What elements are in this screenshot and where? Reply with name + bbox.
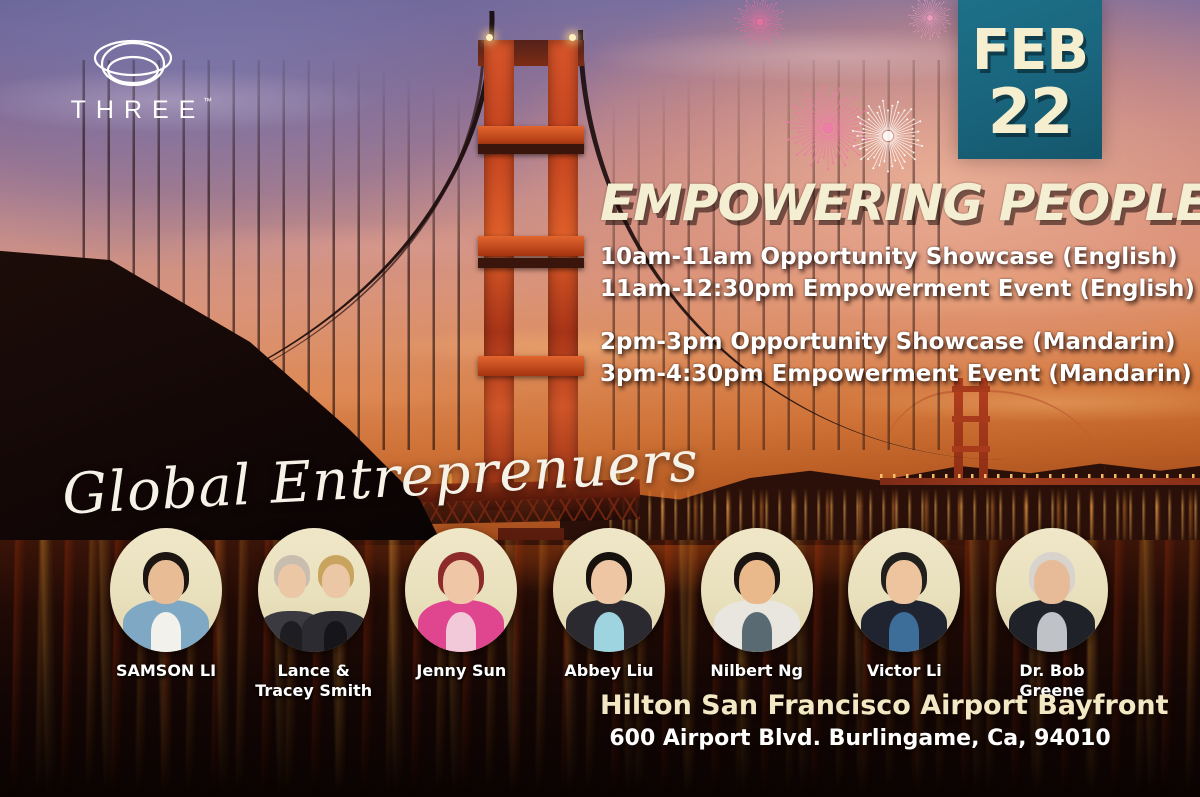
speaker-name: Lance & Tracey Smith (255, 661, 372, 700)
portrait-inner-shirt (280, 621, 303, 652)
portrait-face (591, 560, 627, 604)
portrait-inner-shirt (446, 612, 476, 652)
session-line: 2pm-3pm Opportunity Showcase (Mandarin) (600, 327, 1120, 359)
speaker-portrait (701, 528, 813, 652)
far-bridge-deck (880, 478, 1200, 485)
portrait-inner-shirt (324, 621, 347, 652)
speaker-card: Lance & Tracey Smith (252, 528, 376, 700)
speaker-portrait (848, 528, 960, 652)
portrait-face (739, 560, 775, 604)
speaker-name: SAMSON LI (116, 661, 216, 681)
speaker-portrait (258, 528, 370, 652)
portrait-inner-shirt (889, 612, 919, 652)
speaker-name: Jenny Sun (416, 661, 506, 681)
portrait-face (886, 560, 922, 604)
three-brand-logo: THREE ™ (58, 36, 208, 128)
portrait-inner-shirt (151, 612, 181, 652)
session-line: 11am-12:30pm Empowerment Event (English) (600, 274, 1120, 306)
far-bridge-deck-lights (880, 474, 1200, 478)
page-title: EMPOWERING PEOPLE (600, 178, 1120, 228)
trademark-symbol: ™ (203, 96, 212, 106)
portrait-face (322, 564, 350, 598)
three-wordmark: THREE (58, 96, 208, 125)
speaker-name: Nilbert Ng (710, 661, 803, 681)
speaker-name: Victor Li (867, 661, 942, 681)
venue-block: Hilton San Francisco Airport Bayfront 60… (600, 690, 1120, 751)
speaker-card: Victor Li (842, 528, 966, 681)
venue-address: 600 Airport Blvd. Burlingame, Ca, 94010 (600, 726, 1120, 751)
session-group-english: 10am-11am Opportunity Showcase (English)… (600, 242, 1120, 305)
speaker-portrait (110, 528, 222, 652)
date-badge: FEB 22 (958, 0, 1102, 159)
session-schedule: 10am-11am Opportunity Showcase (English)… (600, 242, 1120, 391)
portrait-inner-shirt (1037, 612, 1067, 652)
speaker-card: Abbey Liu (547, 528, 671, 681)
three-rings-logo-icon (58, 36, 208, 94)
session-line: 10am-11am Opportunity Showcase (English) (600, 242, 1120, 274)
speaker-list: SAMSON LILance & Tracey SmithJenny SunAb… (104, 528, 1114, 678)
session-group-mandarin: 2pm-3pm Opportunity Showcase (Mandarin)3… (600, 327, 1120, 390)
speaker-card: SAMSON LI (104, 528, 228, 681)
session-line: 3pm-4:30pm Empowerment Event (Mandarin) (600, 359, 1120, 391)
headline-block: EMPOWERING PEOPLE 10am-11am Opportunity … (600, 178, 1120, 391)
speaker-card: Nilbert Ng (695, 528, 819, 681)
speaker-portrait (996, 528, 1108, 652)
event-poster: THREE ™ FEB 22 EMPOWERING PEOPLE 10am-11… (0, 0, 1200, 797)
portrait-inner-shirt (742, 612, 772, 652)
venue-name: Hilton San Francisco Airport Bayfront (600, 690, 1120, 722)
portrait-face (278, 564, 306, 598)
speaker-portrait (405, 528, 517, 652)
speaker-card: Jenny Sun (399, 528, 523, 681)
portrait-face (1034, 560, 1070, 604)
portrait-face (443, 560, 479, 604)
date-month: FEB (972, 25, 1088, 77)
portrait-face (148, 560, 184, 604)
date-day: 22 (988, 83, 1072, 140)
speaker-portrait (553, 528, 665, 652)
speaker-card: Dr. Bob Greene (990, 528, 1114, 700)
speaker-name: Abbey Liu (564, 661, 653, 681)
portrait-inner-shirt (594, 612, 624, 652)
